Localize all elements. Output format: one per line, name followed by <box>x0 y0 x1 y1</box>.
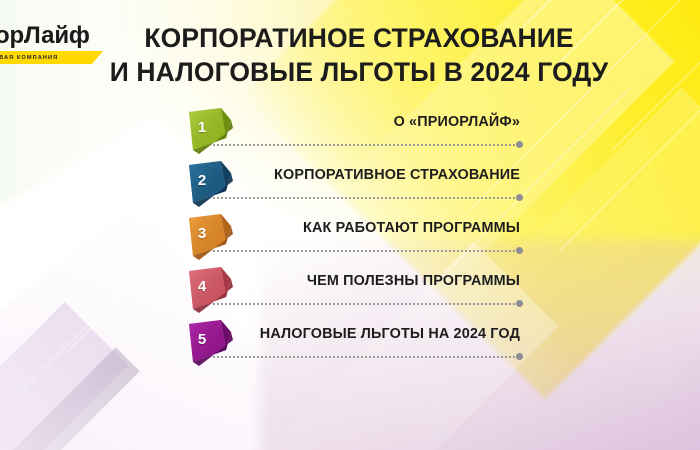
agenda-item[interactable]: 1О «ПРИОРЛАЙФ» <box>0 104 700 157</box>
agenda-item-label: О «ПРИОРЛАЙФ» <box>394 114 520 130</box>
agenda-item-connector-dots <box>212 144 520 146</box>
agenda-item-connector-dots <box>212 250 520 252</box>
agenda-item-connector-dots <box>212 197 520 199</box>
numbered-cube-icon: 1 <box>181 106 235 156</box>
presentation-slide: риорЛайф СТРАХОВАЯ КОМПАНИЯ КОРПОРАТИНОЕ… <box>0 0 700 450</box>
agenda-item-connector-end-dot <box>516 353 523 360</box>
slide-title: КОРПОРАТИНОЕ СТРАХОВАНИЕ И НАЛОГОВЫЕ ЛЬГ… <box>0 22 700 90</box>
numbered-cube-icon: 4 <box>181 265 235 315</box>
agenda-item[interactable]: 3КАК РАБОТАЮТ ПРОГРАММЫ <box>0 210 700 263</box>
agenda-item[interactable]: 5НАЛОГОВЫЕ ЛЬГОТЫ НА 2024 ГОД <box>0 316 700 369</box>
slide-title-line-2: И НАЛОГОВЫЕ ЛЬГОТЫ В 2024 ГОДУ <box>18 56 700 90</box>
slide-title-line-1: КОРПОРАТИНОЕ СТРАХОВАНИЕ <box>18 22 700 56</box>
agenda-item-connector-end-dot <box>516 141 523 148</box>
numbered-cube-icon: 5 <box>181 318 235 368</box>
agenda-item-connector-end-dot <box>516 247 523 254</box>
agenda-item-label: НАЛОГОВЫЕ ЛЬГОТЫ НА 2024 ГОД <box>260 326 520 342</box>
agenda-list: 1О «ПРИОРЛАЙФ»2КОРПОРАТИВНОЕ СТРАХОВАНИЕ… <box>0 104 700 369</box>
agenda-item-label: КАК РАБОТАЮТ ПРОГРАММЫ <box>303 220 520 236</box>
agenda-item-label: ЧЕМ ПОЛЕЗНЫ ПРОГРАММЫ <box>307 273 520 289</box>
numbered-cube-icon: 2 <box>181 159 235 209</box>
agenda-item[interactable]: 4ЧЕМ ПОЛЕЗНЫ ПРОГРАММЫ <box>0 263 700 316</box>
numbered-cube-icon: 3 <box>181 212 235 262</box>
agenda-item[interactable]: 2КОРПОРАТИВНОЕ СТРАХОВАНИЕ <box>0 157 700 210</box>
agenda-item-connector-dots <box>212 356 520 358</box>
agenda-item-label: КОРПОРАТИВНОЕ СТРАХОВАНИЕ <box>274 167 520 183</box>
agenda-item-connector-end-dot <box>516 300 523 307</box>
agenda-item-connector-end-dot <box>516 194 523 201</box>
agenda-item-connector-dots <box>212 303 520 305</box>
